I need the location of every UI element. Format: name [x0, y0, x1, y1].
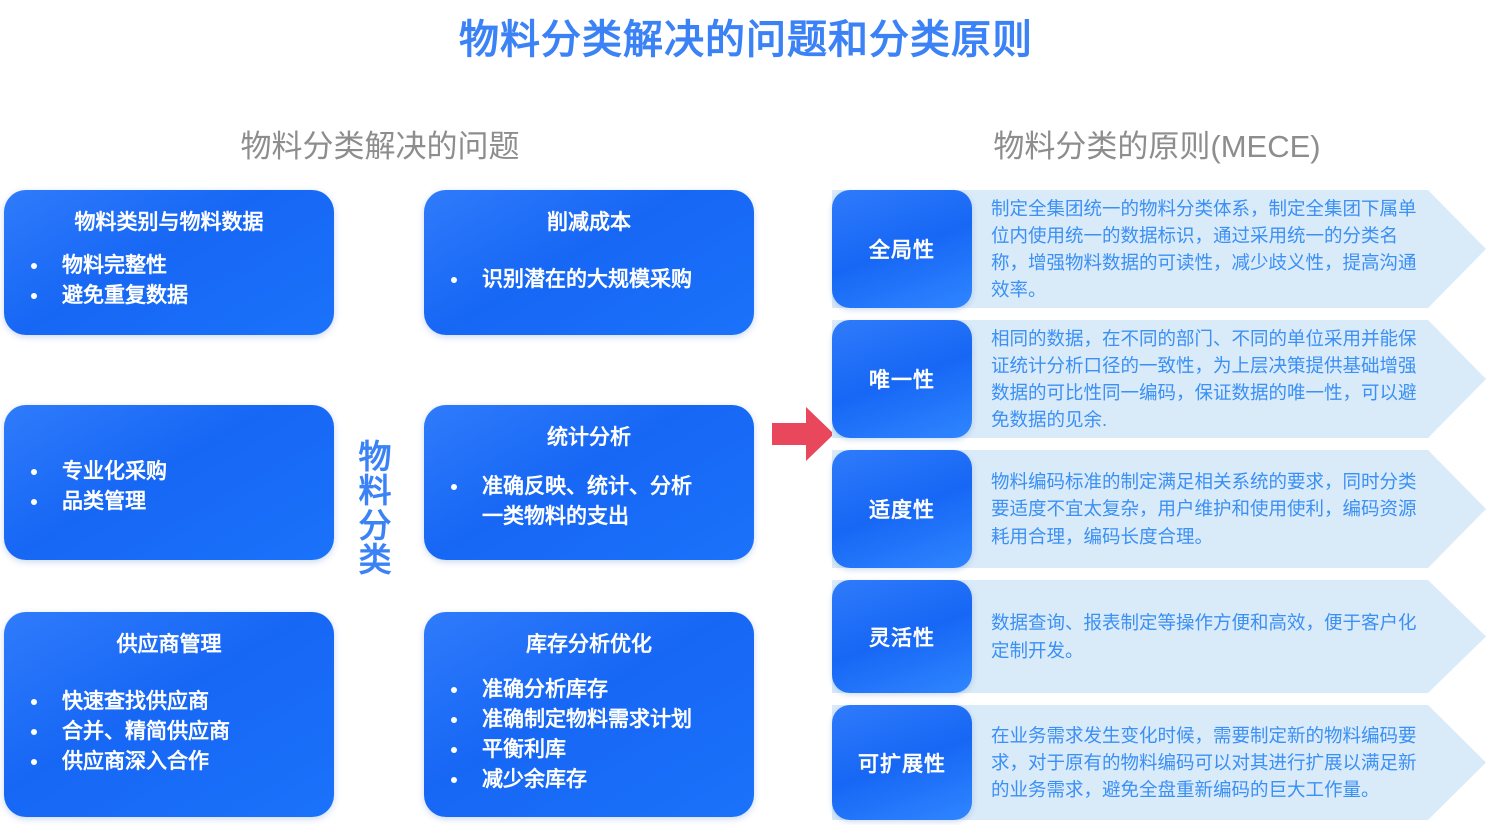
- center-vertical-label: 物 料 分 类: [352, 440, 398, 577]
- list-item-line1: 准确反映、统计、分析: [482, 475, 692, 498]
- problem-card-cost-reduction[interactable]: 削减成本 识别潜在的大规模采购: [424, 190, 754, 335]
- list-item: 准确分析库存: [446, 675, 740, 705]
- mece-description: 物料编码标准的制定满足相关系统的要求，同时分类要适度不宜太复杂，用户维护和使用使…: [972, 450, 1486, 568]
- list-item: 识别潜在的大规模采购: [446, 265, 740, 295]
- mece-description: 数据查询、报表制定等操作方便和高效，便于客户化定制开发。: [972, 580, 1486, 693]
- section-heading-principles: 物料分类的原则(MECE): [822, 121, 1492, 166]
- mece-row-extensibility[interactable]: 可扩展性 在业务需求发生变化时候，需要制定新的物料编码要求，对于原有的物料编码可…: [832, 705, 1486, 820]
- vertical-label-char: 物: [352, 440, 398, 474]
- page-title: 物料分类解决的问题和分类原则: [0, 14, 1492, 66]
- mece-tag: 可扩展性: [832, 705, 972, 820]
- mece-description: 相同的数据，在不同的部门、不同的单位采用并能保证统计分析口径的一致性，为上层决策…: [972, 320, 1486, 438]
- mece-row-global[interactable]: 全局性 制定全集团统一的物料分类体系，制定全集团下属单位内使用统一的数据标识，通…: [832, 190, 1486, 308]
- section-heading-problems: 物料分类解决的问题: [0, 121, 760, 166]
- list-item: 合并、精简供应商: [26, 717, 320, 747]
- problem-card-list: 物料完整性 避免重复数据: [4, 251, 334, 311]
- vertical-label-char: 分: [352, 509, 398, 543]
- vertical-label-char: 类: [352, 543, 398, 577]
- problem-card-inventory-analysis-optimization[interactable]: 库存分析优化 准确分析库存 准确制定物料需求计划 平衡利库 减少余库存: [424, 612, 754, 817]
- problem-card-list: 专业化采购 品类管理: [4, 457, 334, 517]
- list-item: 物料完整性: [26, 251, 320, 281]
- mece-tag: 全局性: [832, 190, 972, 308]
- list-item: 减少余库存: [446, 765, 740, 795]
- vertical-label-char: 料: [352, 474, 398, 508]
- mece-tag: 适度性: [832, 450, 972, 568]
- list-item: 品类管理: [26, 487, 320, 517]
- problem-card-supplier-management[interactable]: 供应商管理 快速查找供应商 合并、精简供应商 供应商深入合作: [4, 612, 334, 817]
- mece-row-uniqueness[interactable]: 唯一性 相同的数据，在不同的部门、不同的单位采用并能保证统计分析口径的一致性，为…: [832, 320, 1486, 438]
- problem-card-professional-procurement[interactable]: 专业化采购 品类管理: [4, 405, 334, 560]
- problem-card-title: 统计分析: [424, 425, 754, 450]
- list-item: 专业化采购: [26, 457, 320, 487]
- list-item: 快速查找供应商: [26, 687, 320, 717]
- list-item: 平衡利库: [446, 735, 740, 765]
- problem-card-title: 库存分析优化: [424, 632, 754, 657]
- problem-card-title: 削减成本: [424, 210, 754, 235]
- mece-tag: 灵活性: [832, 580, 972, 693]
- problem-card-list: 快速查找供应商 合并、精简供应商 供应商深入合作: [4, 687, 334, 776]
- problem-card-list: 准确反映、统计、分析 一类物料的支出: [424, 472, 754, 532]
- problem-card-title: 供应商管理: [4, 632, 334, 657]
- list-item-line2: 一类物料的支出: [482, 502, 740, 532]
- mece-description: 制定全集团统一的物料分类体系，制定全集团下属单位内使用统一的数据标识，通过采用统…: [972, 190, 1486, 308]
- list-item: 准确反映、统计、分析 一类物料的支出: [446, 472, 740, 532]
- problem-card-title: 物料类别与物料数据: [4, 210, 334, 235]
- problem-card-material-category-data[interactable]: 物料类别与物料数据 物料完整性 避免重复数据: [4, 190, 334, 335]
- mece-description: 在业务需求发生变化时候，需要制定新的物料编码要求，对于原有的物料编码可以对其进行…: [972, 705, 1486, 820]
- problem-card-statistical-analysis[interactable]: 统计分析 准确反映、统计、分析 一类物料的支出: [424, 405, 754, 560]
- problem-card-list: 准确分析库存 准确制定物料需求计划 平衡利库 减少余库存: [424, 675, 754, 794]
- mece-row-moderation[interactable]: 适度性 物料编码标准的制定满足相关系统的要求，同时分类要适度不宜太复杂，用户维护…: [832, 450, 1486, 568]
- list-item: 避免重复数据: [26, 281, 320, 311]
- problem-card-list: 识别潜在的大规模采购: [424, 265, 754, 295]
- mece-tag: 唯一性: [832, 320, 972, 438]
- list-item: 供应商深入合作: [26, 747, 320, 777]
- right-arrow-icon: [772, 403, 834, 465]
- list-item: 准确制定物料需求计划: [446, 705, 740, 735]
- mece-row-flexibility[interactable]: 灵活性 数据查询、报表制定等操作方便和高效，便于客户化定制开发。: [832, 580, 1486, 693]
